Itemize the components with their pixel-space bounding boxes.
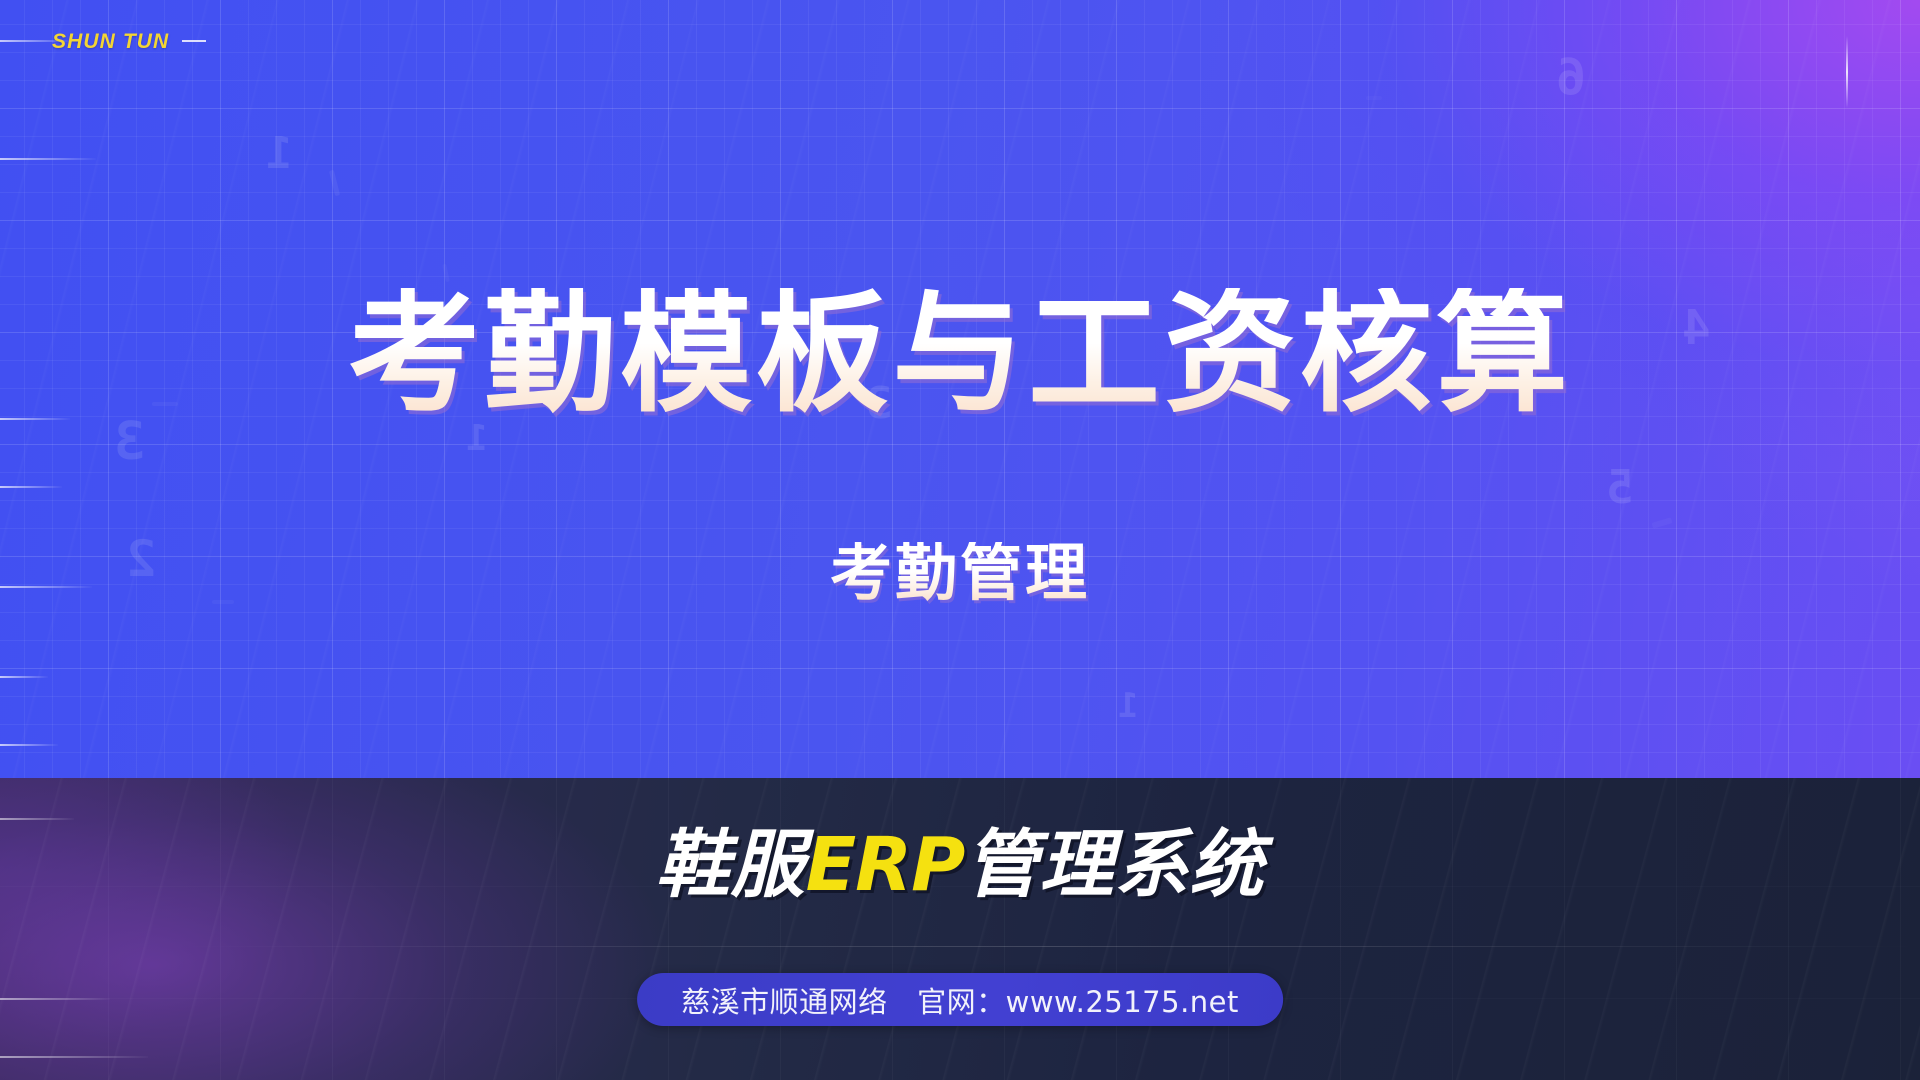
edge-tick-mark (0, 158, 96, 160)
accent-vertical-line (1846, 36, 1848, 108)
decor-sliver (329, 170, 340, 196)
decor-sliver (1652, 517, 1673, 528)
product-brand-title: 鞋服ERP管理系统 (0, 828, 1920, 902)
brand-prefix: 鞋服 (656, 822, 806, 908)
page-title: 考勤模板与工资核算 (0, 288, 1920, 420)
ghost-digit: 1 (1120, 686, 1138, 726)
brand-suffix: 管理系统 (964, 822, 1264, 908)
ghost-digit: 6 (1558, 48, 1586, 106)
website-url-badge[interactable]: 慈溪市顺通网络 官网：www.25175.net (637, 973, 1283, 1026)
footer-edge-tick (0, 998, 110, 1000)
brand-highlight-erp: ERP (806, 822, 965, 908)
edge-tick-mark (0, 744, 58, 746)
page-subtitle: 考勤管理 (0, 542, 1920, 604)
brand-logo: SHUN TUN (52, 30, 206, 54)
footer-divider-line (180, 946, 1920, 947)
footer-edge-tick (0, 1056, 148, 1058)
footer-edge-tick (0, 818, 74, 820)
ghost-digit: 1 (268, 128, 293, 179)
logo-text: SHUN TUN (52, 30, 169, 54)
decor-sliver (1366, 96, 1382, 100)
edge-tick-mark (0, 676, 48, 678)
ghost-digit: 3 (116, 412, 145, 472)
presentation-slide: 163345211 SHUN TUN 考勤模板与工资核算 考勤管理 鞋服ERP管… (0, 0, 1920, 1080)
website-url-text: 慈溪市顺通网络 官网：www.25175.net (681, 979, 1239, 1021)
edge-tick-mark (0, 486, 62, 488)
horizontal-dash-icon (182, 40, 206, 42)
ghost-digit: 5 (1608, 460, 1634, 514)
